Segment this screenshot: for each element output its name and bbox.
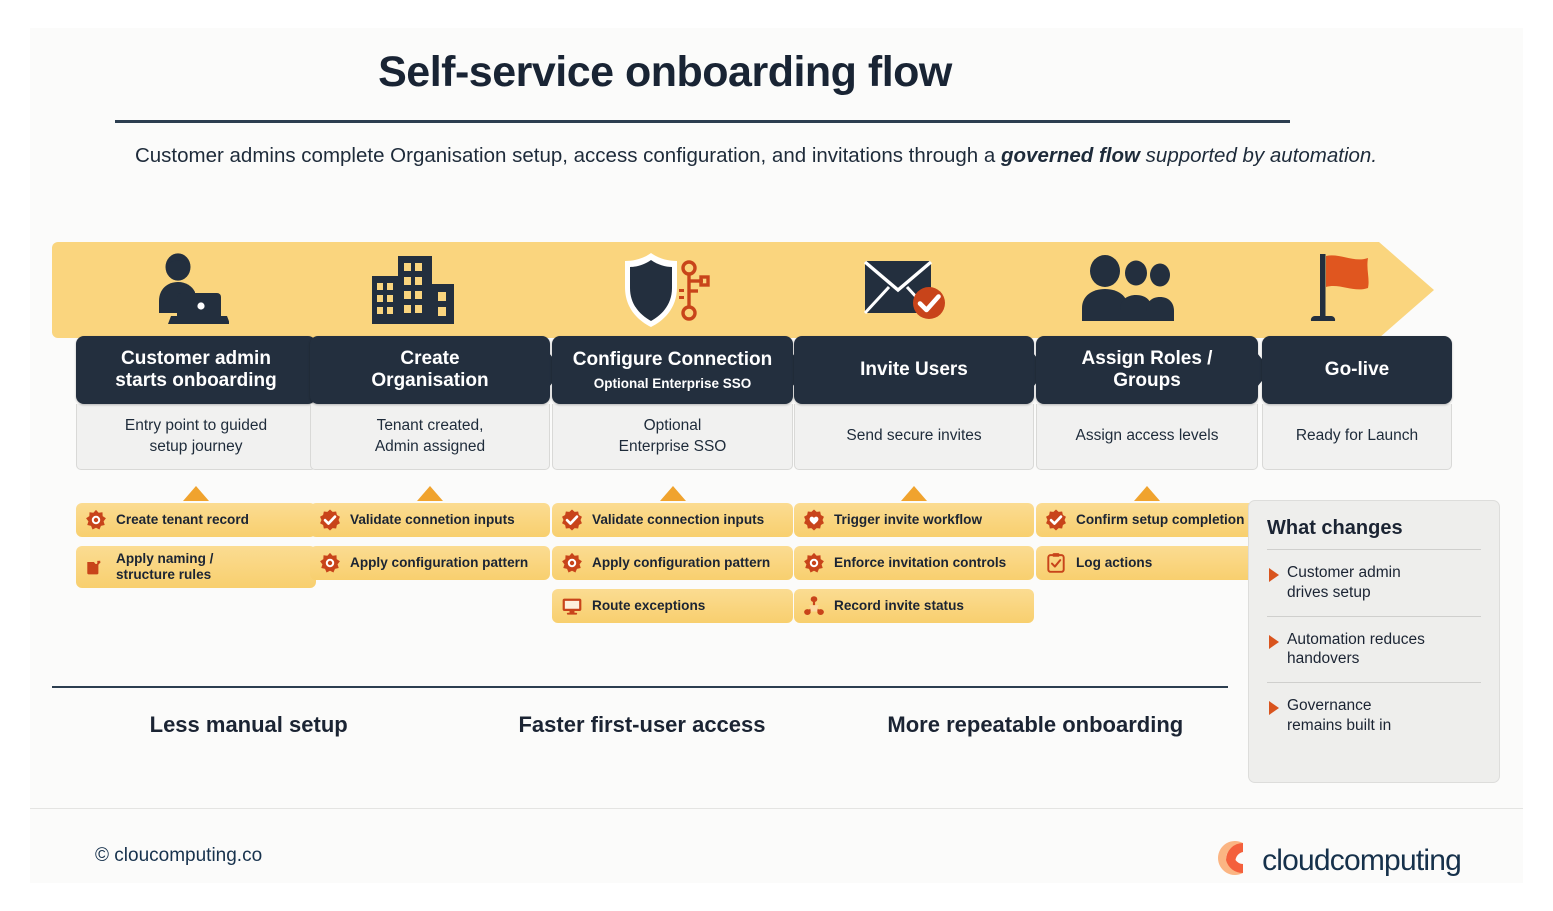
gear-icon (561, 552, 583, 574)
connector-triangle-icon (901, 486, 927, 501)
automation-pill[interactable]: Route exceptions (552, 589, 793, 623)
clipboard-check-icon (1045, 552, 1067, 574)
subtitle-tail: supported by automation. (1140, 144, 1377, 167)
shield-key-icon (621, 251, 713, 329)
flag-icon (1302, 252, 1376, 328)
badge-heart-icon (803, 509, 825, 531)
step-body-customer-admin-starts-onboarding: Entry point to guided setup journey (76, 404, 316, 470)
admin-laptop-icon (151, 253, 229, 327)
automation-pill[interactable]: Validate connection inputs (552, 503, 793, 537)
step-title: Invite Users (860, 359, 968, 381)
step-create-organisation[interactable]: Create OrganisationTenant created, Admin… (310, 336, 550, 470)
automation-pill[interactable]: Apply configuration pattern (552, 546, 793, 580)
step-body-configure-connection: Optional Enterprise SSO (552, 404, 793, 470)
automation-pill[interactable]: Apply configuration pattern (310, 546, 550, 580)
step-body-create-organisation: Tenant created, Admin assigned (310, 404, 550, 470)
step-customer-admin-starts-onboarding[interactable]: Customer admin starts onboardingEntry po… (76, 336, 316, 470)
title-divider (115, 120, 1290, 123)
benefit-item: Faster first-user access (445, 712, 838, 738)
automation-pill-label: Validate connetion inputs (350, 512, 515, 528)
what-changes-panel: What changes Customer admin drives setup… (1248, 500, 1500, 783)
automation-pill-list: Validate connetion inputsApply configura… (310, 503, 550, 589)
page-subtitle: Customer admins complete Organisation se… (76, 144, 1436, 168)
step-header-configure-connection[interactable]: Configure ConnectionOptional Enterprise … (552, 336, 793, 404)
step-header-create-organisation[interactable]: Create Organisation (310, 336, 550, 404)
automation-pill-list: Confirm setup completionLog actions (1036, 503, 1258, 589)
automation-pill-list: Trigger invite workflowEnforce invitatio… (794, 503, 1034, 632)
benefit-item: Less manual setup (52, 712, 445, 738)
what-changes-item: Automation reduces handovers (1267, 617, 1481, 683)
step-title: Assign Roles / Groups (1048, 348, 1246, 392)
badge-check-icon (1045, 509, 1067, 531)
what-changes-title: What changes (1267, 517, 1481, 549)
automation-pill[interactable]: Record invite status (794, 589, 1034, 623)
triangle-bullet-icon (1269, 635, 1279, 649)
gear-icon (319, 552, 341, 574)
process-steps: Customer admin starts onboardingEntry po… (52, 336, 1452, 666)
step-title: Go-live (1325, 359, 1389, 381)
what-changes-item-label: Customer admin drives setup (1287, 563, 1401, 603)
badge-check-icon (319, 509, 341, 531)
what-changes-item: Customer admin drives setup (1267, 550, 1481, 616)
banner-icon-row (52, 242, 1434, 338)
step-go-live[interactable]: Go-liveReady for Launch (1262, 336, 1452, 470)
step-body-assign-roles-groups: Assign access levels (1036, 404, 1258, 470)
automation-pill[interactable]: Log actions (1036, 546, 1258, 580)
connector-triangle-icon (660, 486, 686, 501)
benefit-item: More repeatable onboarding (839, 712, 1232, 738)
automation-pill[interactable]: Apply naming / structure rules (76, 546, 316, 588)
automation-pill-label: Route exceptions (592, 598, 705, 614)
step-invite-users[interactable]: Invite UsersSend secure invitesTrigger i… (794, 336, 1034, 470)
step-header-customer-admin-starts-onboarding[interactable]: Customer admin starts onboarding (76, 336, 316, 404)
automation-pill[interactable]: Create tenant record (76, 503, 316, 537)
monitor-icon (561, 595, 583, 617)
automation-pill-label: Apply configuration pattern (592, 555, 770, 571)
automation-pill-list: Create tenant recordApply naming / struc… (76, 503, 316, 597)
step-header-invite-users[interactable]: Invite Users (794, 336, 1034, 404)
step-title: Configure Connection (573, 349, 772, 371)
automation-pill-label: Log actions (1076, 555, 1152, 571)
footer-brand-name: cloudcomputing (1262, 844, 1461, 878)
envelope-check-icon (863, 257, 951, 323)
automation-pill-label: Enforce invitation controls (834, 555, 1006, 571)
step-title: Customer admin starts onboarding (115, 348, 277, 392)
badge-check-icon (561, 509, 583, 531)
what-changes-item: Governance remains built in (1267, 683, 1481, 749)
automation-pill-list: Validate connection inputsApply configur… (552, 503, 793, 632)
connector-triangle-icon (1134, 486, 1160, 501)
automation-pill[interactable]: Enforce invitation controls (794, 546, 1034, 580)
step-title: Create Organisation (371, 348, 488, 392)
what-changes-item-label: Governance remains built in (1287, 696, 1391, 736)
step-assign-roles-groups[interactable]: Assign Roles / GroupsAssign access level… (1036, 336, 1258, 470)
automation-pill-label: Record invite status (834, 598, 964, 614)
triangle-bullet-icon (1269, 701, 1279, 715)
step-body-invite-users: Send secure invites (794, 404, 1034, 470)
footer-divider (30, 808, 1523, 809)
step-body-go-live: Ready for Launch (1262, 404, 1452, 470)
share-nodes-icon (803, 595, 825, 617)
slide-canvas: Self-service onboarding flow Customer ad… (30, 28, 1523, 883)
gear-icon (85, 509, 107, 531)
benefits-row: Less manual setupFaster first-user acces… (52, 712, 1232, 738)
step-configure-connection[interactable]: Configure ConnectionOptional Enterprise … (552, 336, 793, 470)
automation-pill-label: Create tenant record (116, 512, 249, 528)
step-header-assign-roles-groups[interactable]: Assign Roles / Groups (1036, 336, 1258, 404)
automation-pill-label: Apply configuration pattern (350, 555, 528, 571)
what-changes-item-label: Automation reduces handovers (1287, 630, 1425, 670)
automation-pill[interactable]: Validate connetion inputs (310, 503, 550, 537)
connector-triangle-icon (417, 486, 443, 501)
office-building-icon (368, 254, 460, 326)
page-title: Self-service onboarding flow (30, 48, 1300, 97)
footer-copyright: © cloucomputing.co (95, 845, 262, 867)
step-subtitle: Optional Enterprise SSO (594, 376, 752, 391)
automation-pill[interactable]: Trigger invite workflow (794, 503, 1034, 537)
automation-pill[interactable]: Confirm setup completion (1036, 503, 1258, 537)
subtitle-emphasis: governed flow (1001, 144, 1140, 167)
footer-logo: cloudcomputing (1207, 836, 1461, 885)
folder-icon (85, 556, 107, 578)
automation-pill-label: Validate connection inputs (592, 512, 764, 528)
benefits-divider (52, 686, 1228, 688)
subtitle-lead: Customer admins complete Organisation se… (135, 144, 1001, 167)
automation-pill-label: Confirm setup completion (1076, 512, 1244, 528)
automation-pill-label: Apply naming / structure rules (116, 551, 213, 583)
cloudcomputing-c-logo-icon (1207, 836, 1251, 885)
connector-triangle-icon (183, 486, 209, 501)
users-group-icon (1079, 255, 1175, 325)
triangle-bullet-icon (1269, 568, 1279, 582)
gear-icon (803, 552, 825, 574)
automation-pill-label: Trigger invite workflow (834, 512, 982, 528)
step-header-go-live[interactable]: Go-live (1262, 336, 1452, 404)
